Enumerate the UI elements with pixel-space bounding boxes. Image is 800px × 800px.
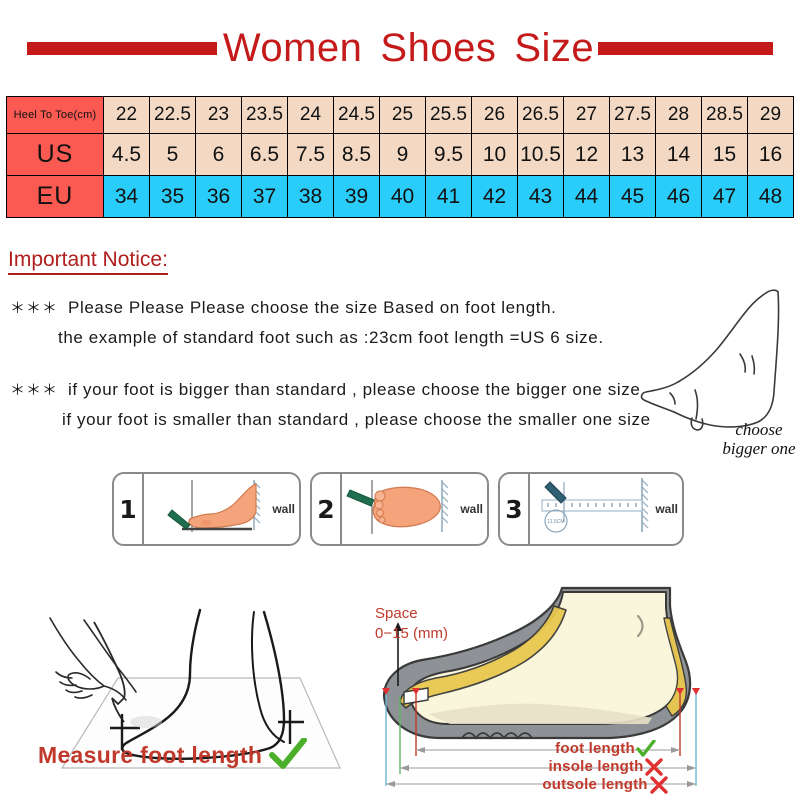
space-gap-label: Space 0−15 (mm) xyxy=(375,604,448,644)
notice-text-2: the example of standard foot such as :23… xyxy=(58,328,604,347)
title-word-shoes: Shoes xyxy=(380,26,496,70)
green-check-icon-foot-length xyxy=(635,740,657,758)
cell-eu-1: 35 xyxy=(150,176,196,218)
space-label-line2: 0−15 (mm) xyxy=(375,624,448,644)
step-3-illustration: 11.5CM wall xyxy=(530,474,682,544)
cell-cm-8: 26 xyxy=(472,97,518,134)
cell-eu-8: 42 xyxy=(472,176,518,218)
dimension-foot-length: foot length xyxy=(476,740,736,758)
important-notice-heading: Important Notice: xyxy=(8,248,168,275)
table-row-eu: EU 34 35 36 37 38 39 40 41 42 43 44 45 4… xyxy=(7,176,794,218)
step-panel-1: 1 wall xyxy=(112,472,301,546)
page-title: WomenShoesSize xyxy=(0,22,800,74)
cell-eu-5: 39 xyxy=(334,176,380,218)
step-number-2: 2 xyxy=(312,474,342,544)
wall-label-1: wall xyxy=(272,502,295,516)
table-row-heel-to-toe: Heel To Toe(cm) 22 22.5 23 23.5 24 24.5 … xyxy=(7,97,794,134)
notice-line-3: ＊＊＊if your foot is bigger than standard … xyxy=(10,374,640,406)
green-check-icon xyxy=(268,738,308,772)
cell-cm-13: 28.5 xyxy=(702,97,748,134)
notice-line-2: the example of standard foot such as :23… xyxy=(58,322,604,353)
dimension-insole-length: insole length xyxy=(476,758,736,776)
row-label-us: US xyxy=(7,134,104,176)
title-rule-right xyxy=(598,42,773,55)
cell-cm-11: 27.5 xyxy=(610,97,656,134)
step-1-illustration: wall xyxy=(144,474,299,544)
choose-bigger-caption: choose bigger one xyxy=(694,420,800,458)
red-cross-icon-outsole-length xyxy=(648,776,670,794)
cell-eu-12: 46 xyxy=(656,176,702,218)
cell-eu-0: 34 xyxy=(104,176,150,218)
cell-eu-7: 41 xyxy=(426,176,472,218)
cell-cm-3: 23.5 xyxy=(242,97,288,134)
cell-us-0: 4.5 xyxy=(104,134,150,176)
cell-eu-3: 37 xyxy=(242,176,288,218)
cell-eu-6: 40 xyxy=(380,176,426,218)
row-label-heel-to-toe: Heel To Toe(cm) xyxy=(7,97,104,134)
title-word-size: Size xyxy=(514,26,594,70)
cell-cm-14: 29 xyxy=(748,97,794,134)
cell-eu-9: 43 xyxy=(518,176,564,218)
cell-cm-7: 25.5 xyxy=(426,97,472,134)
size-chart-page: WomenShoesSize Heel To Toe(cm) 22 22.5 2… xyxy=(0,0,800,800)
cell-us-11: 13 xyxy=(610,134,656,176)
choose-caption-line1: choose xyxy=(694,420,800,439)
cell-cm-12: 28 xyxy=(656,97,702,134)
page-title-text: WomenShoesSize xyxy=(223,28,594,68)
wall-label-2: wall xyxy=(460,502,483,516)
cell-us-12: 14 xyxy=(656,134,702,176)
cell-eu-4: 38 xyxy=(288,176,334,218)
cell-eu-14: 48 xyxy=(748,176,794,218)
row-label-eu: EU xyxy=(7,176,104,218)
choose-caption-line2: bigger one xyxy=(694,439,800,458)
cell-us-9: 10.5 xyxy=(518,134,564,176)
notice-stars-2: ＊＊＊ xyxy=(10,382,58,399)
cell-us-3: 6.5 xyxy=(242,134,288,176)
cell-us-5: 8.5 xyxy=(334,134,380,176)
step-number-1: 1 xyxy=(114,474,144,544)
cell-eu-10: 44 xyxy=(564,176,610,218)
cell-cm-9: 26.5 xyxy=(518,97,564,134)
red-cross-icon-insole-length xyxy=(644,758,664,776)
cell-cm-10: 27 xyxy=(564,97,610,134)
step-2-illustration: wall xyxy=(342,474,487,544)
cell-cm-0: 22 xyxy=(104,97,150,134)
measure-foot-caption: Measure foot length xyxy=(38,742,262,769)
space-label-line1: Space xyxy=(375,604,448,624)
cell-us-2: 6 xyxy=(196,134,242,176)
notice-stars-1: ＊＊＊ xyxy=(10,300,58,317)
cell-us-6: 9 xyxy=(380,134,426,176)
cell-us-10: 12 xyxy=(564,134,610,176)
cell-cm-2: 23 xyxy=(196,97,242,134)
notice-text-4: if your foot is smaller than standard , … xyxy=(62,410,651,429)
title-word-women: Women xyxy=(223,26,363,70)
cell-eu-11: 45 xyxy=(610,176,656,218)
dimension-label-insole-length: insole length xyxy=(548,758,643,776)
cell-cm-1: 22.5 xyxy=(150,97,196,134)
step-panel-2: 2 wall xyxy=(310,472,489,546)
cell-cm-4: 24 xyxy=(288,97,334,134)
cell-us-4: 7.5 xyxy=(288,134,334,176)
notice-line-1: ＊＊＊Please Please Please choose the size … xyxy=(10,292,556,324)
cell-us-7: 9.5 xyxy=(426,134,472,176)
dimension-label-outsole-length: outsole length xyxy=(542,776,647,794)
dimension-label-foot-length: foot length xyxy=(555,740,635,758)
size-conversion-table: Heel To Toe(cm) 22 22.5 23 23.5 24 24.5 … xyxy=(6,96,794,218)
cell-cm-6: 25 xyxy=(380,97,426,134)
cell-eu-2: 36 xyxy=(196,176,242,218)
ruler-badge-text: 11.5CM xyxy=(547,519,564,525)
notice-line-4: if your foot is smaller than standard , … xyxy=(62,404,651,435)
notice-text-1: Please Please Please choose the size Bas… xyxy=(68,298,556,317)
title-rule-left xyxy=(27,42,217,55)
table-row-us: US 4.5 5 6 6.5 7.5 8.5 9 9.5 10 10.5 12 … xyxy=(7,134,794,176)
cell-us-1: 5 xyxy=(150,134,196,176)
cell-us-8: 10 xyxy=(472,134,518,176)
step-panel-3: 3 xyxy=(498,472,684,546)
step-number-3: 3 xyxy=(500,474,530,544)
cell-cm-5: 24.5 xyxy=(334,97,380,134)
notice-text-3: if your foot is bigger than standard , p… xyxy=(68,380,640,399)
cell-us-13: 15 xyxy=(702,134,748,176)
measurement-steps: 1 wall xyxy=(112,472,672,546)
shoe-dimension-labels: foot length insole length outsole length xyxy=(476,740,736,794)
cell-us-14: 16 xyxy=(748,134,794,176)
cell-eu-13: 47 xyxy=(702,176,748,218)
wall-label-3: wall xyxy=(655,502,678,516)
dimension-outsole-length: outsole length xyxy=(476,776,736,794)
